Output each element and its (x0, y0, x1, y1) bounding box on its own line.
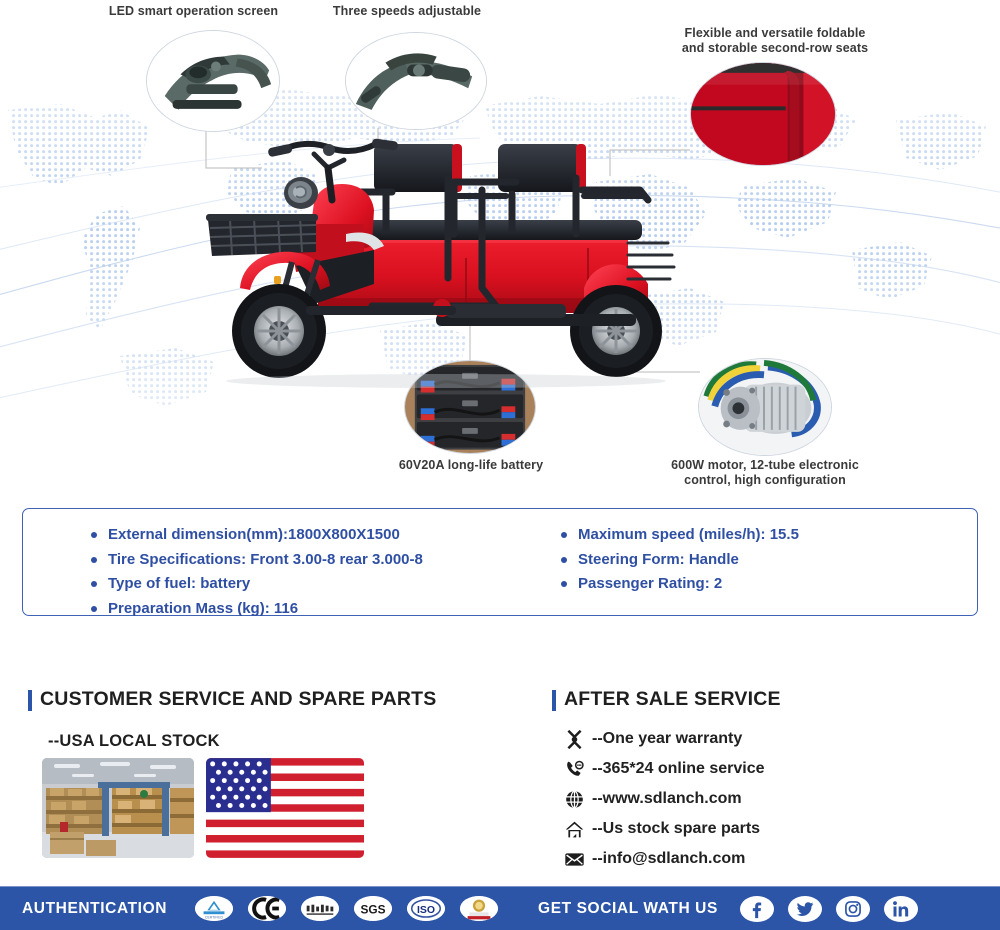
home-icon (562, 818, 586, 840)
globe-icon (562, 788, 586, 810)
svg-text:ISO: ISO (417, 905, 435, 916)
cert-badge-sgs[interactable]: SGS (354, 896, 392, 921)
envelope-icon (562, 848, 586, 870)
callout-label-foldable-seats-line1: Flexible and versatile foldable (655, 26, 895, 41)
spec-item: Tire Specifications: Front 3.00-8 rear 3… (91, 548, 423, 573)
after-sale-item-label: --www.sdlanch.com (592, 790, 742, 808)
callout-label-motor: 600W motor, 12-tube electronic control, … (640, 458, 890, 488)
cert-badge-iso[interactable]: ISO (407, 896, 445, 921)
twitter-icon[interactable] (788, 896, 822, 922)
callout-label-motor-line2: control, high configuration (640, 473, 890, 488)
spec-column-right: Maximum speed (miles/h): 15.5 Steering F… (561, 523, 799, 597)
rear-wheel (570, 285, 662, 377)
after-sale-item-label: --365*24 online service (592, 760, 765, 778)
certification-badges: CERTIFIED (195, 896, 498, 921)
product-image-tricycle (196, 138, 726, 388)
after-sale-item-label: --info@sdlanch.com (592, 850, 745, 868)
after-sale-item-spare-parts: --Us stock spare parts (562, 818, 760, 840)
warehouse-photo (42, 758, 194, 858)
callout-label-motor-line1: 600W motor, 12-tube electronic (640, 458, 890, 473)
after-sale-item-warranty: --One year warranty (562, 728, 742, 750)
usa-flag (206, 758, 364, 858)
footer-bar: AUTHENTICATION CERTIFIED (0, 886, 1000, 930)
callout-label-foldable-seats-line2: and storable second-row seats (655, 41, 895, 56)
wrench-icon (562, 728, 586, 750)
social-label: GET SOCIAL WATH US (538, 900, 718, 918)
front-wheel (232, 284, 326, 378)
spec-item: Type of fuel: battery (91, 572, 423, 597)
spec-item: Steering Form: Handle (561, 548, 799, 573)
service-section: CUSTOMER SERVICE AND SPARE PARTS --USA L… (0, 640, 1000, 885)
after-sale-item-website: --www.sdlanch.com (562, 788, 742, 810)
warehouse-image (42, 758, 194, 858)
callout-label-battery: 60V20A long-life battery (378, 458, 564, 473)
cert-badge-ce[interactable] (248, 896, 286, 921)
svg-text:CERTIFIED: CERTIFIED (205, 915, 223, 919)
usa-local-stock-label: --USA LOCAL STOCK (48, 732, 220, 751)
bubble-three-speeds (345, 32, 487, 130)
callout-label-foldable-seats: Flexible and versatile foldable and stor… (655, 26, 895, 56)
cert-badge-eec[interactable] (301, 896, 339, 921)
spec-item: Preparation Mass (kg): 116 (91, 597, 423, 622)
heading-after-sale-service: AFTER SALE SERVICE (552, 688, 781, 711)
spec-item: External dimension(mm):1800X800X1500 (91, 523, 423, 548)
hero-section: LED smart operation screen Three speeds … (0, 0, 1000, 497)
instagram-icon[interactable] (836, 896, 870, 922)
cert-badge-cqc[interactable]: CERTIFIED (195, 896, 233, 921)
after-sale-item-email: --info@sdlanch.com (562, 848, 745, 870)
heading-customer-service: CUSTOMER SERVICE AND SPARE PARTS (28, 688, 436, 711)
phone-icon (562, 758, 586, 780)
specifications-box: External dimension(mm):1800X800X1500 Tir… (22, 508, 978, 616)
social-badges (740, 896, 918, 922)
bubble-led-screen (146, 30, 280, 132)
authentication-label: AUTHENTICATION (22, 900, 167, 918)
after-sale-item-label: --Us stock spare parts (592, 820, 760, 838)
after-sale-item-online: --365*24 online service (562, 758, 765, 780)
facebook-icon[interactable] (740, 896, 774, 922)
usa-flag-icon (206, 758, 364, 858)
callout-label-three-speeds: Three speeds adjustable (308, 4, 506, 19)
spec-column-left: External dimension(mm):1800X800X1500 Tir… (91, 523, 423, 621)
spec-item: Maximum speed (miles/h): 15.5 (561, 523, 799, 548)
svg-text:SGS: SGS (361, 903, 386, 917)
linkedin-icon[interactable] (884, 896, 918, 922)
spec-item: Passenger Rating: 2 (561, 572, 799, 597)
throttle-icon (346, 33, 486, 130)
callout-label-led-screen: LED smart operation screen (86, 4, 301, 19)
after-sale-item-label: --One year warranty (592, 730, 742, 748)
cert-badge-quality[interactable] (460, 896, 498, 921)
dashboard-icon (147, 31, 279, 131)
